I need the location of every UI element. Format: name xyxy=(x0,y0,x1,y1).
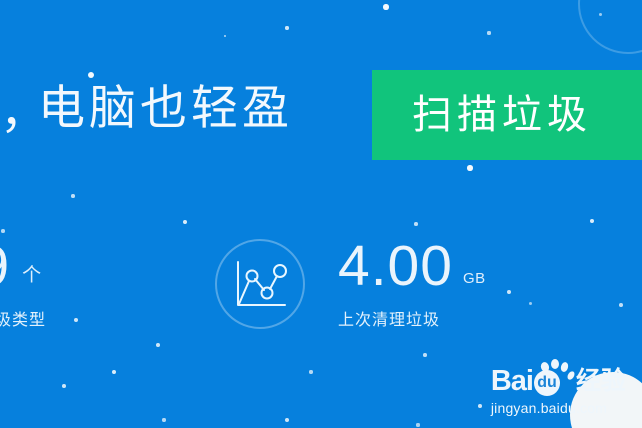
stat-junk-types-caption: 垃圾类型 xyxy=(0,306,118,330)
decorative-dot xyxy=(112,370,116,374)
corner-arc-decoration xyxy=(578,0,642,54)
decorative-dot xyxy=(619,303,623,307)
corner-blob-decoration xyxy=(570,372,642,428)
decorative-dot xyxy=(156,343,160,347)
watermark-bai-text: Bai xyxy=(491,367,533,396)
page-title: 电脑也轻盈 xyxy=(38,84,293,131)
decorative-dot xyxy=(599,13,602,16)
decorative-dot xyxy=(590,219,594,223)
line-chart-icon xyxy=(214,238,306,330)
stat-junk-types-row: 9 个 xyxy=(0,238,118,294)
decorative-dot xyxy=(62,384,66,388)
watermark-url-text: jingyan.baidu.com xyxy=(491,400,626,416)
stat-last-cleaned-caption: 上次清理垃圾 xyxy=(338,306,486,330)
stat-last-cleaned: 4.00 GB 上次清理垃圾 xyxy=(338,238,486,330)
stat-junk-types-value: 9 xyxy=(0,238,9,294)
stat-last-cleaned-row: 4.00 GB xyxy=(338,238,486,294)
watermark-du-text: du xyxy=(537,375,557,391)
decorative-dot xyxy=(71,194,75,198)
decorative-dot xyxy=(162,418,165,421)
decorative-dot xyxy=(487,31,490,34)
decorative-dot xyxy=(88,72,94,78)
paw-print-icon: du xyxy=(534,366,574,396)
stat-last-cleaned-value: 4.00 xyxy=(338,238,453,295)
decorative-dot xyxy=(285,26,288,29)
decorative-dot xyxy=(1,229,5,233)
stat-last-cleaned-unit: GB xyxy=(463,270,486,287)
watermark-jingyan-text: 经验 xyxy=(576,369,626,394)
headline-clipped-prefix: ， xyxy=(0,88,20,136)
decorative-dot xyxy=(414,222,418,226)
stat-junk-types: 9 个 垃圾类型 xyxy=(0,238,118,330)
decorative-dot xyxy=(507,290,511,294)
scan-junk-button[interactable]: 扫描垃圾 xyxy=(372,70,642,160)
decorative-dot xyxy=(285,418,289,422)
decorative-dot xyxy=(309,370,312,373)
decorative-dot xyxy=(423,353,427,357)
watermark-du-badge: du xyxy=(534,370,560,396)
decorative-dot xyxy=(416,423,419,426)
decorative-dot xyxy=(183,220,187,224)
decorative-dot xyxy=(529,302,532,305)
baidu-jingyan-watermark: Bai du 经验 jingyan.baidu.com xyxy=(491,365,626,416)
scan-junk-button-label: 扫描垃圾 xyxy=(412,95,592,135)
decorative-dot xyxy=(478,404,482,408)
decorative-dot xyxy=(383,4,388,9)
decorative-dot xyxy=(467,165,472,170)
decorative-dot xyxy=(224,35,227,38)
watermark-logo-row: Bai du 经验 xyxy=(491,365,626,397)
stat-junk-types-unit: 个 xyxy=(22,260,41,287)
app-screen: ， 电脑也轻盈 扫描垃圾 9 个 垃圾类型 4.00 GB 上次清理垃圾 xyxy=(0,0,642,428)
